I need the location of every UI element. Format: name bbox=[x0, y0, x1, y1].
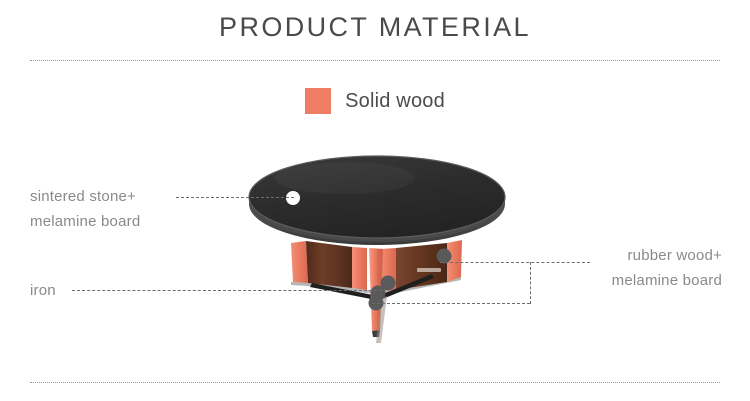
callout-iron-line1: iron bbox=[30, 278, 56, 303]
callout-sintered-stone-line1: sintered stone+ bbox=[30, 184, 140, 209]
callout-iron: iron bbox=[30, 278, 56, 303]
callout-sintered-stone-line2: melamine board bbox=[30, 209, 140, 234]
legend-swatch-solid-wood bbox=[305, 88, 331, 114]
callout-sintered-stone: sintered stone+ melamine board bbox=[30, 184, 140, 234]
callout-rubber-wood-line2: melamine board bbox=[612, 268, 722, 293]
table-top bbox=[249, 156, 505, 245]
base-pilaster-right bbox=[447, 240, 462, 282]
divider-top bbox=[30, 60, 720, 61]
base-gap-center bbox=[367, 248, 380, 291]
legend-label-solid-wood: Solid wood bbox=[345, 90, 445, 113]
front-leg-foot bbox=[372, 330, 380, 337]
marker-dot-iron bbox=[371, 286, 386, 301]
leader-line-iron bbox=[72, 290, 382, 291]
base-wood-panel-right bbox=[396, 243, 447, 290]
callout-rubber-wood-line1: rubber wood+ bbox=[612, 243, 722, 268]
leader-line-rubber-wood-bottom bbox=[372, 303, 530, 304]
callout-rubber-wood: rubber wood+ melamine board bbox=[612, 243, 722, 293]
leader-line-rubber-wood-connector bbox=[530, 262, 531, 304]
page-title: PRODUCT MATERIAL bbox=[0, 12, 750, 43]
tabletop-edge-outer bbox=[249, 163, 505, 245]
leader-line-sintered-stone bbox=[176, 197, 294, 198]
base-pilaster-left bbox=[291, 241, 308, 283]
iron-brace-left bbox=[310, 283, 378, 300]
leader-line-rubber-wood-top bbox=[440, 262, 590, 263]
divider-bottom bbox=[30, 382, 720, 383]
marker-dot-sintered-stone bbox=[286, 191, 300, 205]
base-pilaster-center-right bbox=[380, 248, 396, 291]
legend: Solid wood bbox=[0, 88, 750, 114]
iron-brace-right bbox=[378, 274, 434, 300]
tabletop-edge-mid bbox=[249, 160, 505, 242]
tabletop-sheen bbox=[275, 162, 415, 194]
table-base bbox=[291, 240, 462, 343]
base-bottom-edge bbox=[291, 277, 461, 294]
product-material-infographic: PRODUCT MATERIAL Solid wood bbox=[0, 0, 750, 401]
base-pilaster-center-left bbox=[352, 247, 367, 290]
base-brand-plate bbox=[417, 268, 441, 272]
base-wood-panel-left bbox=[306, 241, 352, 288]
marker-dot-rubber-wood-lower bbox=[381, 276, 396, 291]
